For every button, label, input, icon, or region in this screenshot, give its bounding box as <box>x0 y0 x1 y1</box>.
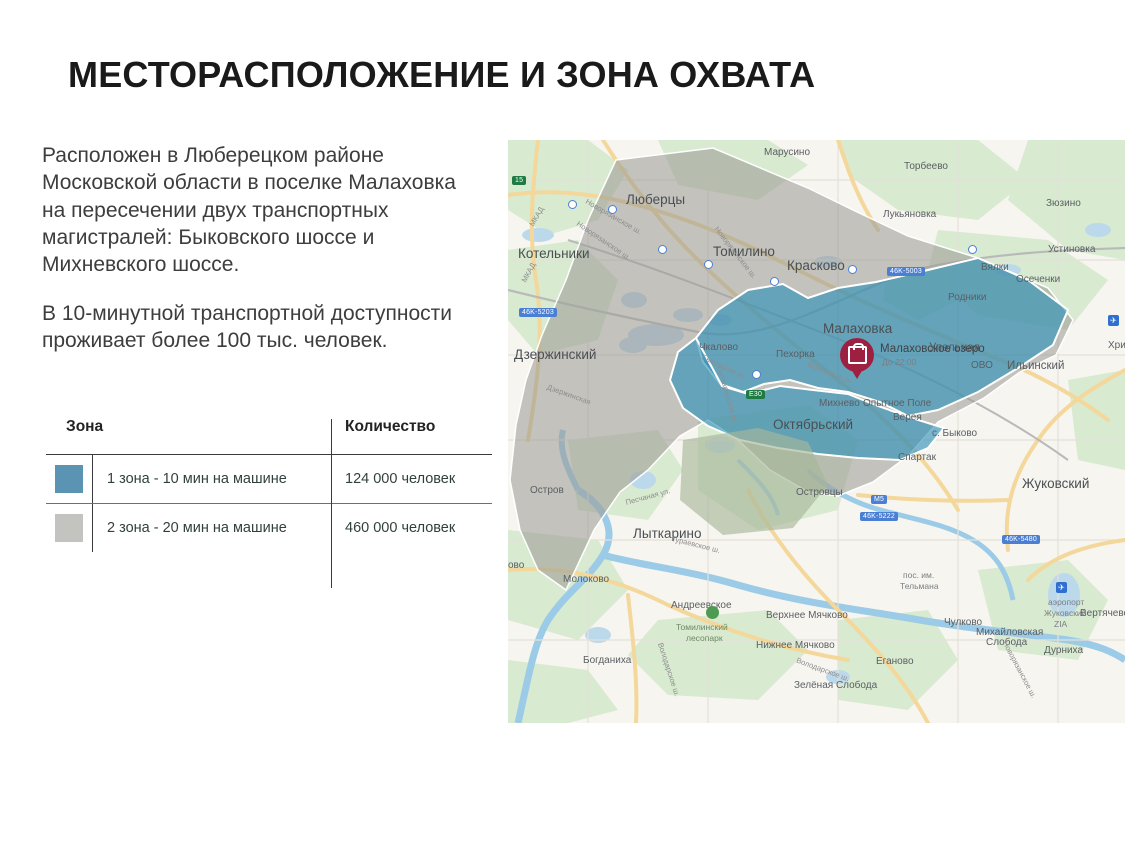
airport-icon-secondary: ✈ <box>1108 315 1119 326</box>
table-cell-zone-label: 2 зона - 20 мин на машине <box>92 504 331 552</box>
header-label-zone: Зона <box>66 418 103 435</box>
zone-quantity: 460 000 человек <box>345 520 455 536</box>
table-cell-swatch <box>46 514 92 542</box>
table-cell-zone-label: 1 зона - 10 мин на машине <box>92 455 331 503</box>
coverage-table: Зона Количество 1 зона - 10 мин на машин… <box>46 418 492 552</box>
table-cell-quantity: 460 000 человек <box>331 504 492 552</box>
table-header-cell-quantity: Количество <box>331 418 492 436</box>
transit-stop-icon <box>770 277 779 286</box>
transit-stop-icon <box>608 205 617 214</box>
road-shield-46k-5003: 46K-5003 <box>887 267 925 276</box>
table-header-cell-zone: Зона <box>46 418 331 436</box>
zone-quantity: 124 000 человек <box>345 471 455 487</box>
table-cell-quantity: 124 000 человек <box>331 455 492 503</box>
transit-stop-icon <box>968 245 977 254</box>
road-shield-15: 15 <box>512 176 526 185</box>
location-pin[interactable] <box>840 338 874 372</box>
slide-root: МЕСТОРАСПОЛОЖЕНИЕ И ЗОНА ОХВАТА Располож… <box>0 0 1125 844</box>
airport-icon: ✈ <box>1056 582 1067 593</box>
shopping-bag-icon <box>848 346 867 364</box>
road-shield-46k-5203: 46K-5203 <box>519 308 557 317</box>
park-icon <box>706 606 719 619</box>
table-cell-swatch <box>46 465 92 493</box>
transit-stop-icon <box>848 265 857 274</box>
road-shield-e30: E30 <box>746 390 765 399</box>
zone-label: 1 зона - 10 мин на машине <box>107 471 287 487</box>
table-header-row: Зона Количество <box>46 418 492 454</box>
transit-stop-icon <box>752 370 761 379</box>
zone-color-swatch <box>55 465 83 493</box>
zone-label: 2 зона - 20 мин на машине <box>107 520 287 536</box>
road-shield-46k-5222: 46K-5222 <box>860 512 898 521</box>
road-shield-46k-5480: 46K-5480 <box>1002 535 1040 544</box>
transit-stop-icon <box>704 260 713 269</box>
zone-color-swatch <box>55 514 83 542</box>
table-row: 1 зона - 10 мин на машине 124 000 челове… <box>46 455 492 503</box>
road-shield-m5: M5 <box>871 495 887 504</box>
description-paragraph-1: Расположен в Люберецком районе Московско… <box>42 142 472 278</box>
page-title: МЕСТОРАСПОЛОЖЕНИЕ И ЗОНА ОХВАТА <box>68 54 815 96</box>
transit-stop-icon <box>658 245 667 254</box>
header-label-quantity: Количество <box>345 418 435 435</box>
description-paragraph-2: В 10-минутной транспортной доступности п… <box>42 300 472 355</box>
map-canvas <box>508 140 1125 723</box>
coverage-map[interactable]: Люберцы Томилино Красково Котельники Дзе… <box>508 140 1125 723</box>
transit-stop-icon <box>568 200 577 209</box>
table-row: 2 зона - 20 мин на машине 460 000 челове… <box>46 504 492 552</box>
